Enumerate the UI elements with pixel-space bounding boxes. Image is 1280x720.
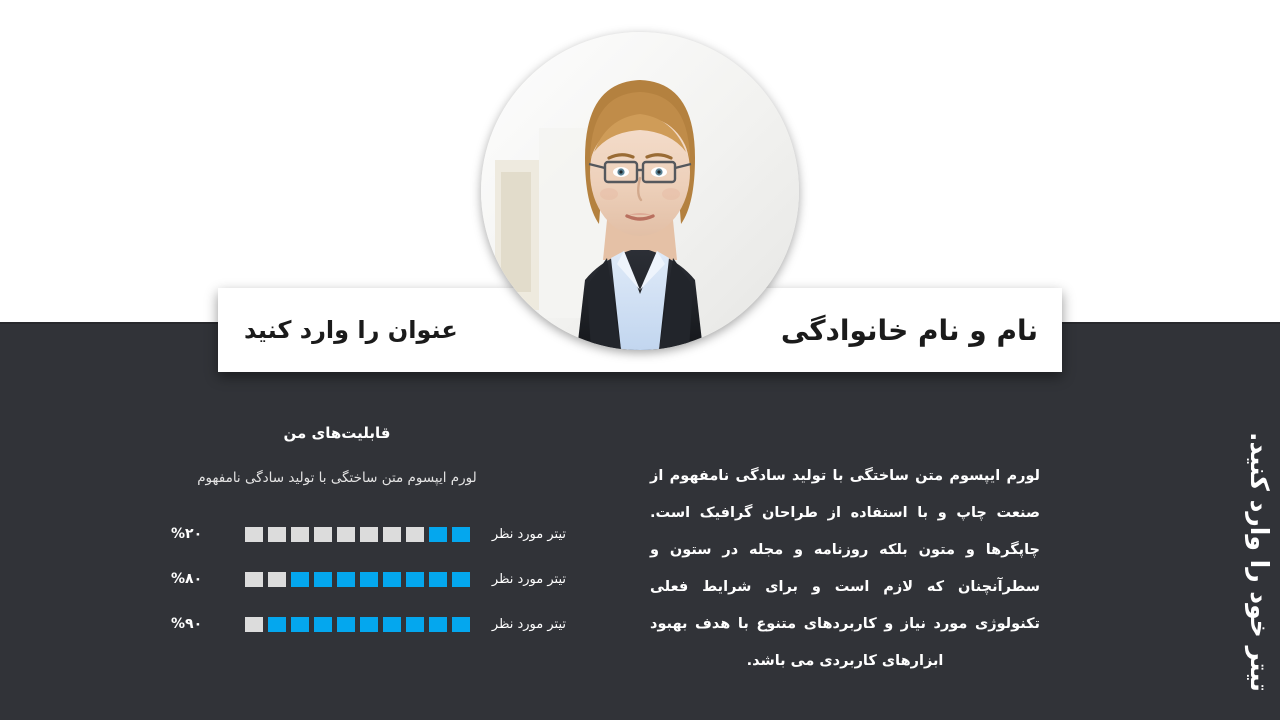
skill-percent: %۸۰ — [171, 571, 235, 587]
skill-segment-filled — [383, 572, 401, 587]
skill-segment-filled — [268, 617, 286, 632]
skill-segment-filled — [429, 572, 447, 587]
skill-segment-filled — [291, 617, 309, 632]
vertical-section-title: تیتر خود را وارد کنید. — [1245, 432, 1274, 692]
skills-subtitle: لورم ایپسوم متن ساختگی با تولید سادگی نا… — [146, 470, 566, 486]
skill-segment-empty — [291, 527, 309, 542]
skill-segment-filled — [406, 617, 424, 632]
skill-segment-filled — [314, 572, 332, 587]
skill-segment-empty — [245, 572, 263, 587]
skill-label: تیتر مورد نظر — [470, 527, 566, 542]
skill-segment-filled — [406, 572, 424, 587]
skill-segment-filled — [452, 527, 470, 542]
skill-segment-filled — [429, 617, 447, 632]
bio-paragraph: لورم ایپسوم متن ساختگی با تولید سادگی نا… — [650, 458, 1040, 680]
skill-meter — [235, 617, 470, 632]
skill-segment-filled — [337, 617, 355, 632]
skill-segment-empty — [406, 527, 424, 542]
skill-segment-empty — [268, 527, 286, 542]
person-name: نام و نام خانوادگی — [781, 314, 1038, 347]
skill-segment-empty — [314, 527, 332, 542]
skill-row: تیتر مورد نظر%۹۰ — [146, 610, 566, 638]
skill-segment-filled — [360, 617, 378, 632]
skills-title: قابلیت‌های من — [146, 424, 566, 442]
skill-row: تیتر مورد نظر%۸۰ — [146, 565, 566, 593]
skill-segment-filled — [429, 527, 447, 542]
skill-segment-empty — [383, 527, 401, 542]
skill-label: تیتر مورد نظر — [470, 572, 566, 587]
skill-percent: %۹۰ — [171, 616, 235, 632]
skills-list: تیتر مورد نظر%۲۰تیتر مورد نظر%۸۰تیتر مور… — [146, 520, 566, 638]
skill-segment-empty — [245, 527, 263, 542]
skill-segment-empty — [268, 572, 286, 587]
skill-segment-filled — [452, 617, 470, 632]
skill-row: تیتر مورد نظر%۲۰ — [146, 520, 566, 548]
skill-percent: %۲۰ — [171, 526, 235, 542]
skill-segment-filled — [337, 572, 355, 587]
skill-segment-empty — [245, 617, 263, 632]
skill-segment-filled — [452, 572, 470, 587]
skills-section: قابلیت‌های من لورم ایپسوم متن ساختگی با … — [146, 424, 566, 655]
skill-segment-filled — [383, 617, 401, 632]
skill-meter — [235, 527, 470, 542]
skill-segment-empty — [360, 527, 378, 542]
slide-canvas: نام و نام خانوادگی عنوان را وارد کنید تی… — [0, 0, 1280, 720]
skill-segment-filled — [291, 572, 309, 587]
skill-segment-filled — [314, 617, 332, 632]
skill-segment-empty — [337, 527, 355, 542]
skill-label: تیتر مورد نظر — [470, 617, 566, 632]
person-role: عنوان را وارد کنید — [244, 316, 458, 344]
skill-meter — [235, 572, 470, 587]
skill-segment-filled — [360, 572, 378, 587]
portrait-photo — [481, 32, 799, 350]
